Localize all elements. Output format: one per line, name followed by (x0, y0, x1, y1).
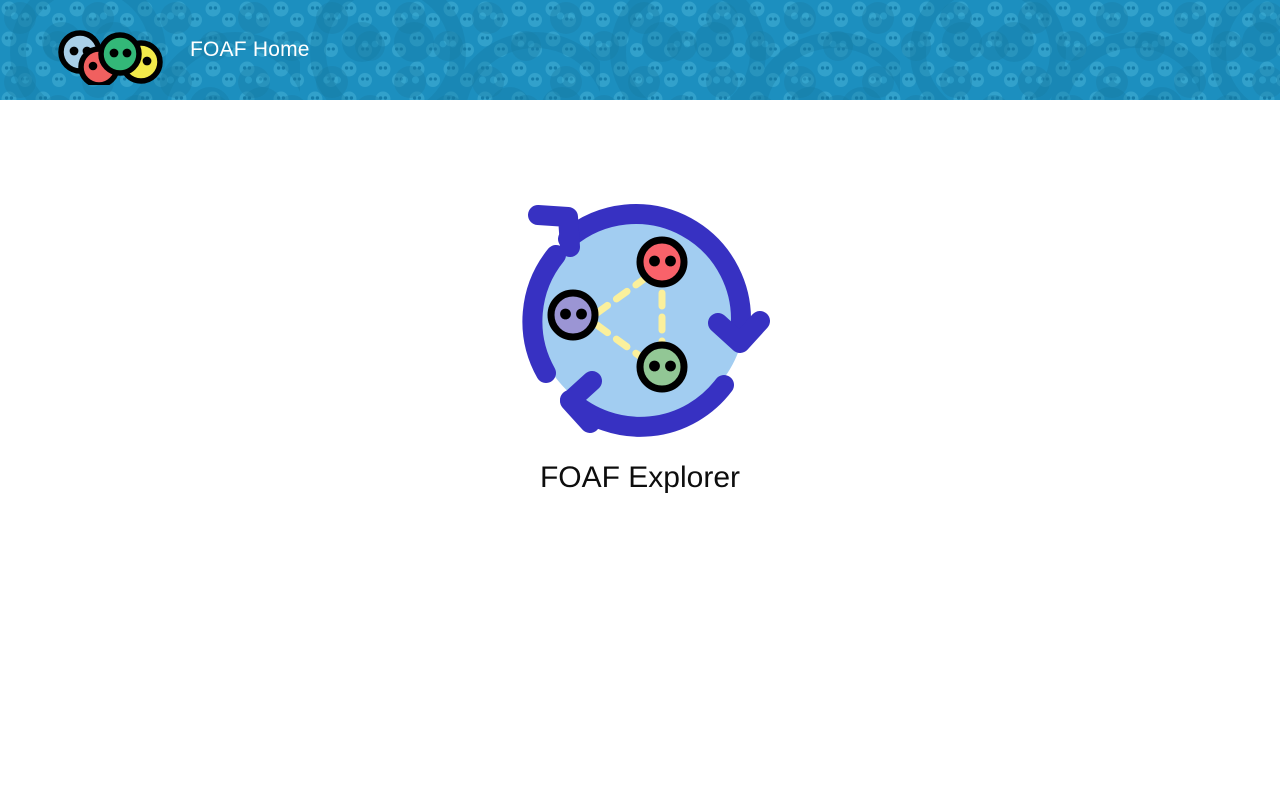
site-header: FOAF Home (0, 0, 1280, 100)
node-green[interactable] (640, 345, 684, 389)
foaf-faces-logo-icon[interactable] (56, 15, 168, 85)
main-content: FOAF Explorer (0, 100, 1280, 800)
foaf-explorer-network-icon[interactable] (500, 185, 780, 445)
brand-title[interactable]: FOAF Home (190, 38, 310, 62)
node-red[interactable] (640, 240, 684, 284)
logo-face-green (101, 35, 139, 73)
node-purple[interactable] (551, 293, 595, 337)
header-inner: FOAF Home (0, 0, 310, 100)
arrow-head-top-left (538, 215, 570, 247)
page-title: FOAF Explorer (540, 461, 740, 494)
